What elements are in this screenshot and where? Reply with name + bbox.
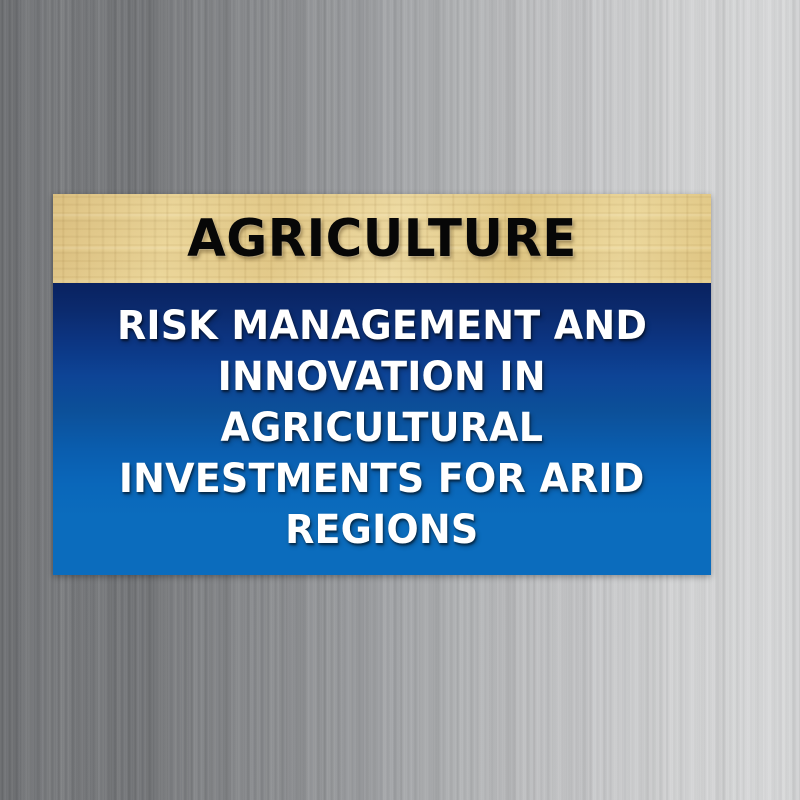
category-header-band: AGRICULTURE bbox=[53, 194, 711, 283]
title-line-4: INVESTMENTS FOR ARID bbox=[119, 454, 645, 505]
book-cover-card: AGRICULTURE RISK MANAGEMENT AND INNOVATI… bbox=[53, 194, 711, 575]
title-body-band: RISK MANAGEMENT AND INNOVATION IN AGRICU… bbox=[53, 283, 711, 575]
category-title: AGRICULTURE bbox=[187, 209, 577, 269]
title-line-2: INNOVATION IN bbox=[218, 352, 546, 403]
title-line-1: RISK MANAGEMENT AND bbox=[117, 301, 647, 352]
title-line-3: AGRICULTURAL bbox=[221, 403, 544, 454]
title-line-5: REGIONS bbox=[285, 505, 478, 556]
